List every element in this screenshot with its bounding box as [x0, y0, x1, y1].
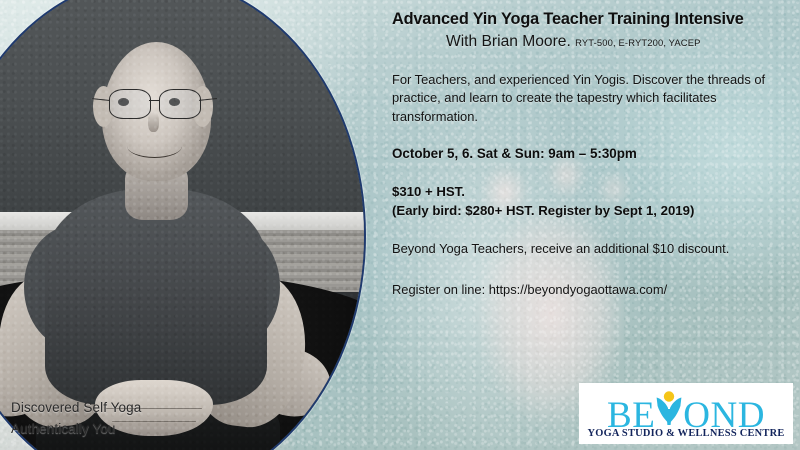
presenter-line: With Brian Moore. RYT-500, E-RYT200, YAC… — [392, 33, 790, 52]
flyer-content: Advanced Yin Yoga Teacher Training Inten… — [392, 10, 790, 299]
registration-line[interactable]: Register on line: https://beyondyogaotta… — [392, 281, 790, 299]
flyer-canvas: Discovered Self Yoga Authentically You A… — [0, 0, 800, 450]
portrait-photo — [0, 0, 364, 450]
logo-word-part-1: BE — [607, 398, 655, 434]
yoga-figure-icon — [655, 389, 683, 427]
event-headline: Advanced Yin Yoga Teacher Training Inten… — [392, 10, 790, 29]
presenter-name: With Brian Moore. — [446, 33, 571, 50]
event-description: For Teachers, and experienced Yin Yogis.… — [392, 71, 790, 126]
pricing-block: $310 + HST. (Early bird: $280+ HST. Regi… — [392, 183, 790, 220]
studio-tagline: Discovered Self Yoga Authentically You — [11, 398, 231, 440]
tagline-line-2: Authentically You — [11, 419, 231, 440]
teacher-discount-note: Beyond Yoga Teachers, receive an additio… — [392, 240, 790, 259]
instructor-portrait — [0, 0, 366, 450]
beyond-yoga-logo[interactable]: BE OND YOGA STUDIO & WELLNESS CENTRE — [579, 383, 793, 444]
logo-wordmark: BE OND — [607, 389, 765, 427]
tagline-line-1: Discovered Self Yoga — [11, 398, 231, 419]
price-early-bird: (Early bird: $280+ HST. Register by Sept… — [392, 202, 790, 221]
event-dates: October 5, 6. Sat & Sun: 9am – 5:30pm — [392, 146, 790, 161]
portrait-grain-overlay — [0, 0, 364, 450]
presenter-credentials: RYT-500, E-RYT200, YACEP — [575, 37, 700, 48]
price-standard: $310 + HST. — [392, 183, 790, 202]
logo-word-part-2: OND — [683, 398, 765, 434]
